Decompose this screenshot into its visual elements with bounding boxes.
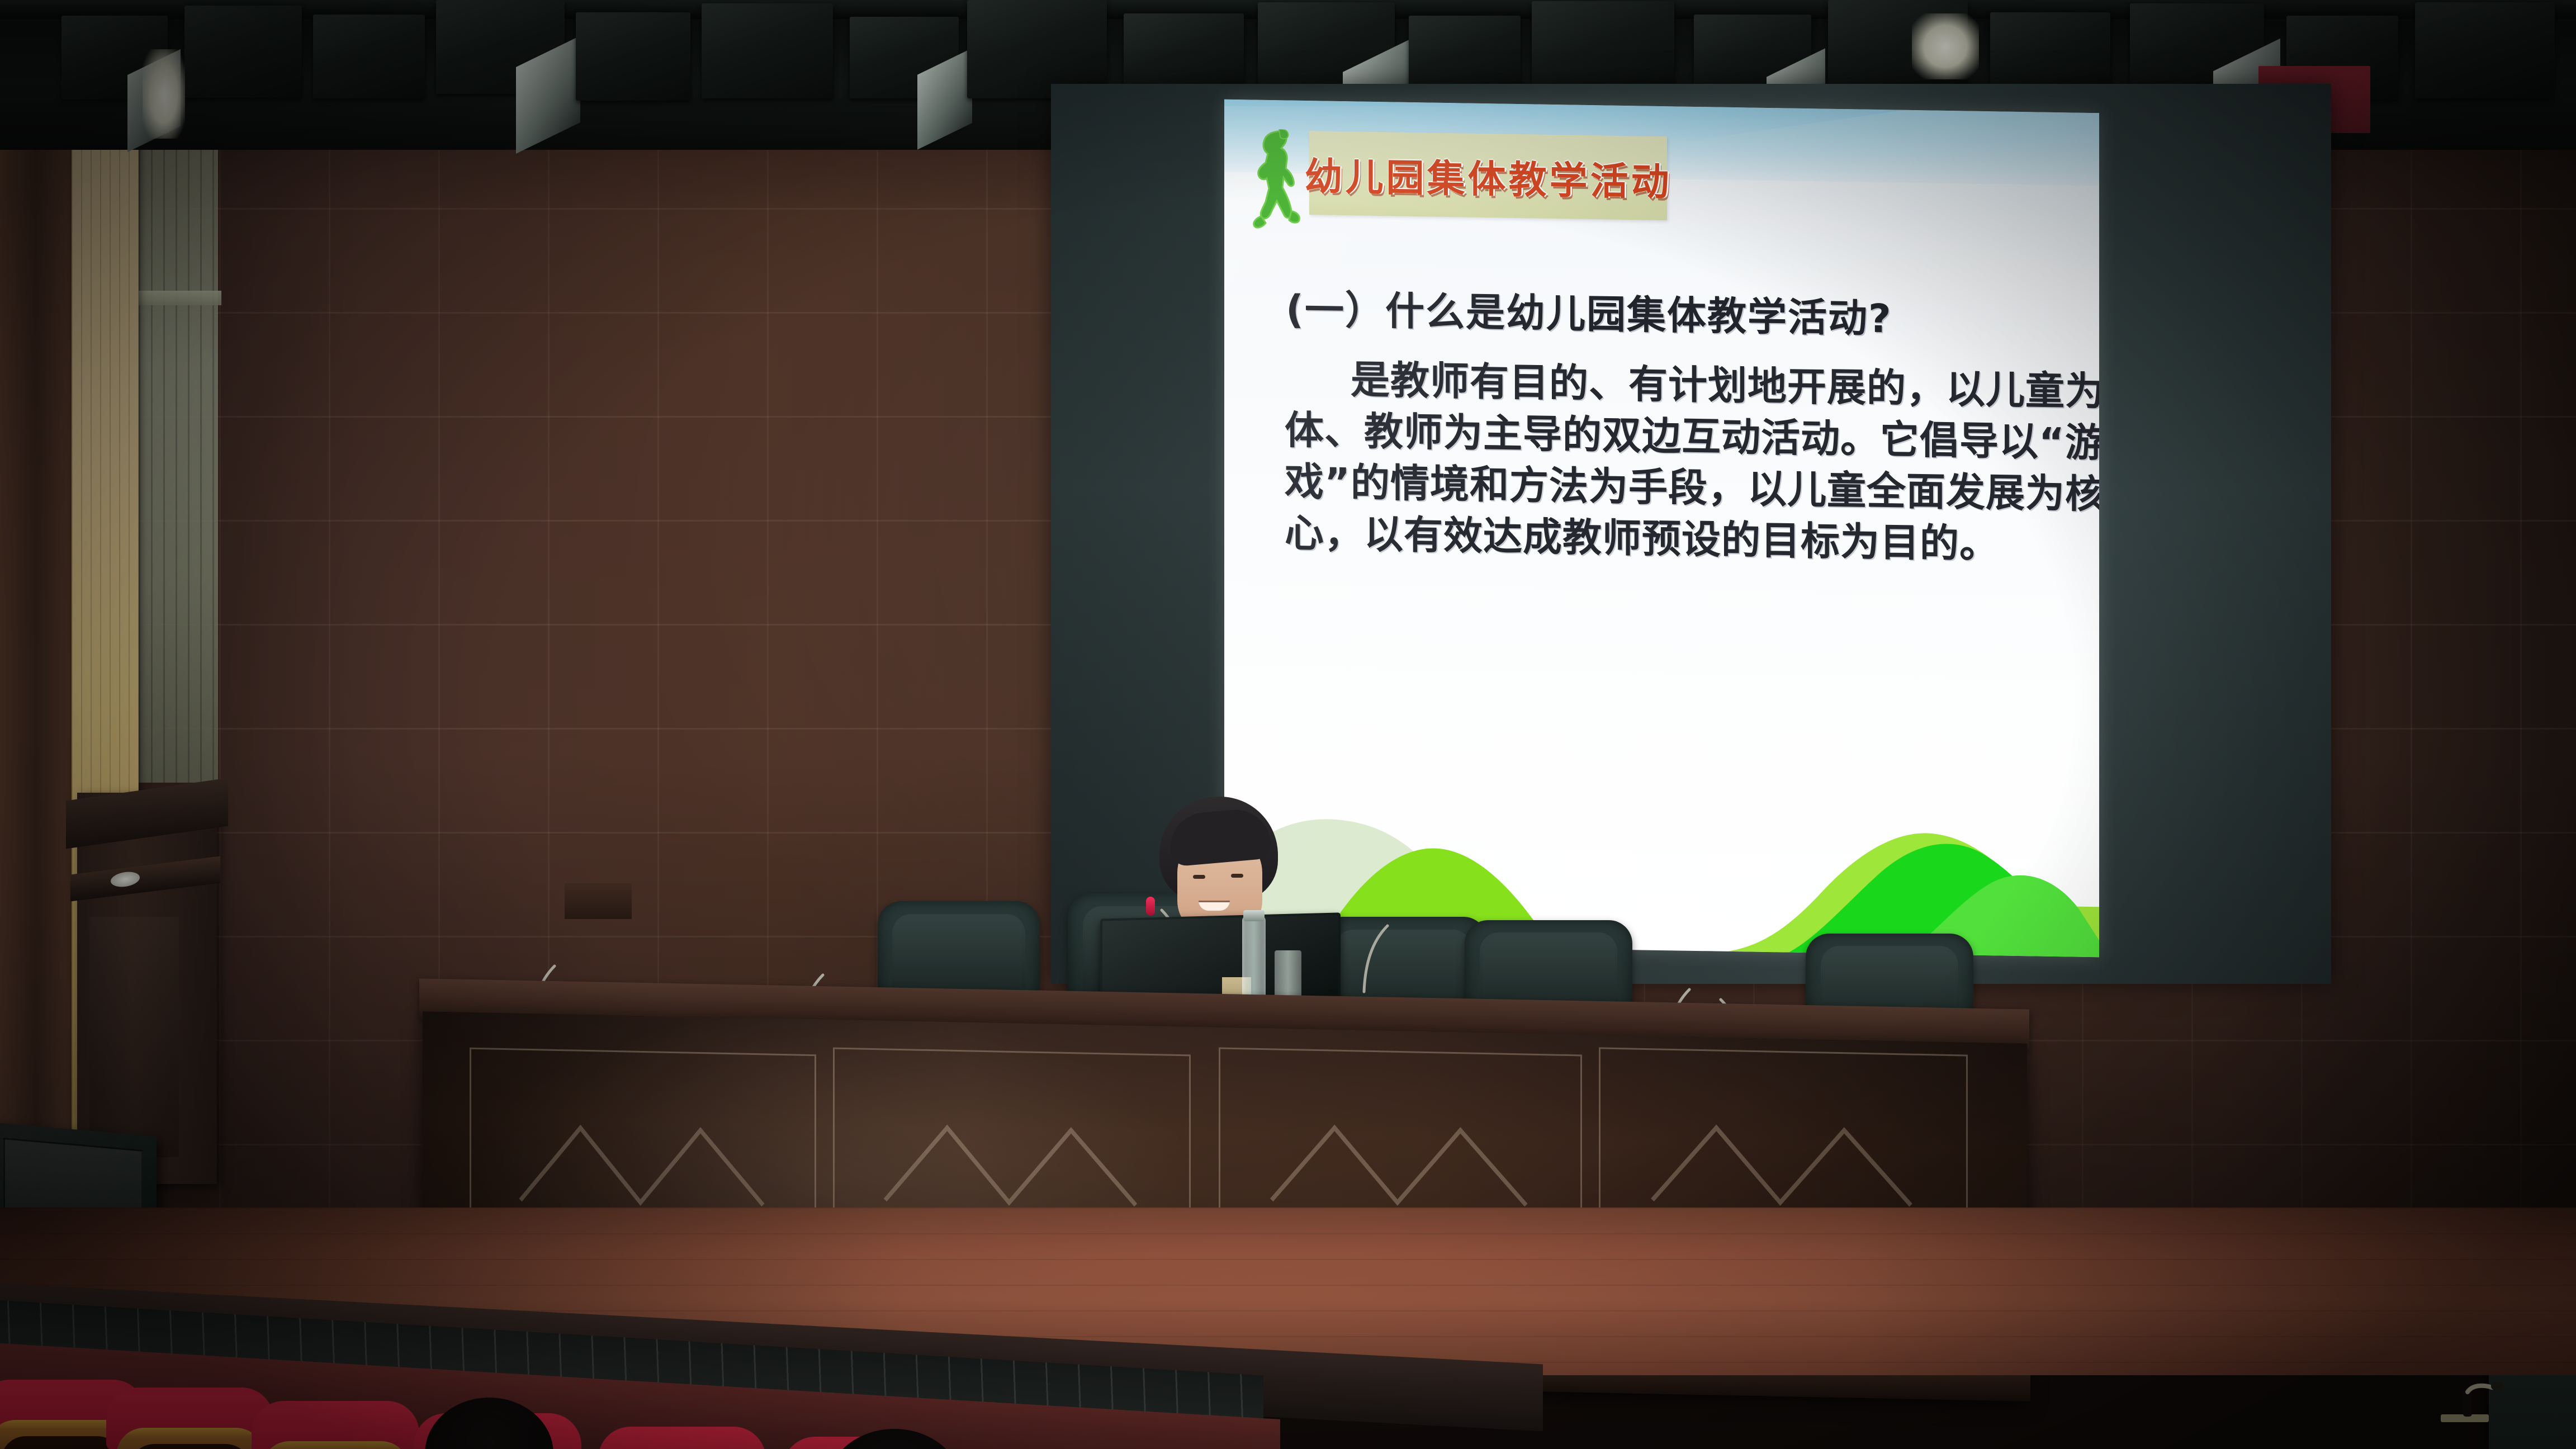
lamp-hot-spot [143, 49, 185, 139]
slide-paragraph: 是教师有目的、有计划地开展的，以儿童为主 体、教师为主导的双边互动活动。它倡导以… [1285, 353, 2067, 571]
fluted-column [139, 89, 218, 783]
lamp-hot-spot [1912, 13, 1979, 79]
speaker-eye-right [1231, 874, 1243, 878]
slide-heading: (一）什么是幼儿园集体教学活动? [1286, 278, 2057, 347]
chevron-motif [1263, 1117, 1537, 1211]
running-child-icon [1249, 129, 1300, 230]
chevron-motif [877, 1117, 1147, 1211]
stage-light-fixture [702, 3, 833, 98]
slide-title-banner: 幼儿园集体教学活动 [1309, 131, 1667, 220]
stage-light-fixture [184, 6, 302, 98]
audience-seat [106, 1388, 274, 1449]
lectern-panel [89, 917, 179, 1157]
stage-light-fixture [2415, 2, 2555, 98]
mic-gooseneck-arm [1353, 910, 1420, 994]
mic-red-tip [1146, 897, 1155, 916]
column-band [139, 291, 221, 305]
seat-inner-shadow [130, 1444, 250, 1449]
wall-mounted-box [565, 883, 632, 919]
speaker-eye-left [1193, 875, 1205, 879]
audience-seat [252, 1401, 419, 1449]
floor-mic-stand [2437, 1375, 2504, 1427]
seat-cushion [598, 1427, 766, 1449]
seat-inner-shadow [1, 1436, 122, 1449]
bottle-cap [1243, 910, 1265, 921]
seat-wood-back [262, 1441, 409, 1449]
stage-light-fixture [576, 12, 690, 101]
audience-seat [598, 1427, 766, 1449]
chevron-motif [513, 1117, 774, 1211]
chevron-motif [1644, 1117, 1922, 1211]
stage-light-fixture [313, 15, 425, 98]
projected-slide: 幼儿园集体教学活动 (一）什么是幼儿园集体教学活动? 是教师有目的、有计划地开展… [1224, 100, 2099, 958]
slide-banner-text: 幼儿园集体教学活动 [1305, 145, 1672, 206]
auditorium-scene: 幼儿园集体教学活动 (一）什么是幼儿园集体教学活动? 是教师有目的、有计划地开展… [0, 0, 2576, 1449]
gooseneck-microphone [1353, 910, 1420, 994]
wall-edge-trim [0, 0, 72, 1219]
